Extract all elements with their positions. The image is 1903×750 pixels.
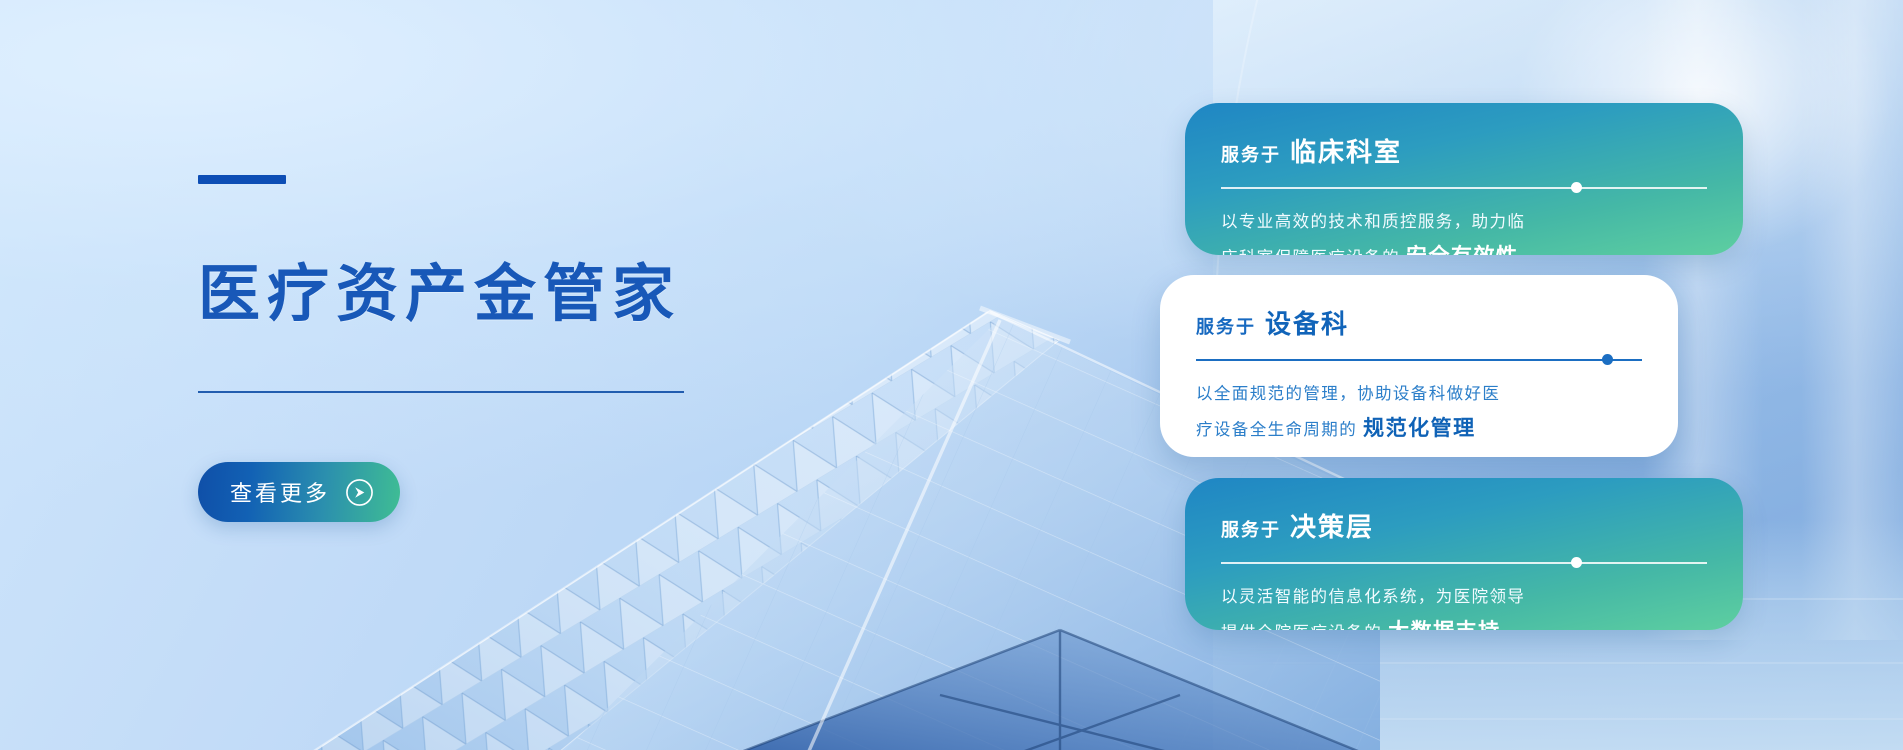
hero-banner: 医疗资产金管家 查看更多 服务于 临床科室 以专业 xyxy=(0,0,1903,750)
title-divider xyxy=(198,391,684,393)
card-description-emphasis: 安全有效性 xyxy=(1406,245,1519,255)
card-description-lead: 床科室保障医疗设备的 xyxy=(1221,249,1400,255)
card-heading: 服务于 设备科 xyxy=(1196,304,1642,341)
arrow-right-circle-icon xyxy=(345,478,374,507)
card-progress-line xyxy=(1221,187,1707,189)
card-prefix: 服务于 xyxy=(1196,313,1256,339)
card-prefix: 服务于 xyxy=(1221,516,1281,542)
card-description-line-2: 提供全院医疗设备的 大数据支持 xyxy=(1221,613,1707,630)
card-description-emphasis: 规范化管理 xyxy=(1363,417,1476,440)
card-description-line-1: 以全面规范的管理，协助设备科做好医 xyxy=(1196,379,1642,410)
card-description: 以专业高效的技术和质控服务，助力临 床科室保障医疗设备的 安全有效性 xyxy=(1221,207,1707,255)
card-progress-dot[interactable] xyxy=(1571,182,1582,193)
card-target: 临床科室 xyxy=(1290,132,1402,169)
card-progress-line xyxy=(1196,359,1642,361)
card-heading: 服务于 临床科室 xyxy=(1221,132,1707,169)
service-card-clinical-department[interactable]: 服务于 临床科室 以专业高效的技术和质控服务，助力临 床科室保障医疗设备的 安全… xyxy=(1185,103,1743,255)
card-prefix: 服务于 xyxy=(1221,141,1281,167)
card-description-lead: 疗设备全生命周期的 xyxy=(1196,421,1357,439)
card-target: 设备科 xyxy=(1265,304,1349,341)
hero-copy: 医疗资产金管家 查看更多 xyxy=(198,120,898,522)
card-progress-dot[interactable] xyxy=(1602,354,1613,365)
card-description-line-1: 以专业高效的技术和质控服务，助力临 xyxy=(1221,207,1707,238)
card-description: 以灵活智能的信息化系统，为医院领导 提供全院医疗设备的 大数据支持 xyxy=(1221,582,1707,630)
card-progress-track[interactable] xyxy=(1196,354,1642,365)
page-title: 医疗资产金管家 xyxy=(198,262,898,327)
card-description-line-2: 疗设备全生命周期的 规范化管理 xyxy=(1196,410,1642,449)
card-description-line-2: 床科室保障医疗设备的 安全有效性 xyxy=(1221,238,1707,255)
card-description-emphasis: 大数据支持 xyxy=(1388,620,1501,630)
view-more-button[interactable]: 查看更多 xyxy=(198,462,400,522)
card-description: 以全面规范的管理，协助设备科做好医 疗设备全生命周期的 规范化管理 xyxy=(1196,379,1642,448)
card-description-line-1: 以灵活智能的信息化系统，为医院领导 xyxy=(1221,582,1707,613)
service-card-decision-makers[interactable]: 服务于 决策层 以灵活智能的信息化系统，为医院领导 提供全院医疗设备的 大数据支… xyxy=(1185,478,1743,630)
card-progress-track[interactable] xyxy=(1221,182,1707,193)
view-more-label: 查看更多 xyxy=(230,476,330,508)
service-card-equipment-department[interactable]: 服务于 设备科 以全面规范的管理，协助设备科做好医 疗设备全生命周期的 规范化管… xyxy=(1160,275,1678,457)
card-target: 决策层 xyxy=(1290,507,1374,544)
card-progress-track[interactable] xyxy=(1221,557,1707,568)
card-progress-dot[interactable] xyxy=(1571,557,1582,568)
card-description-lead: 提供全院医疗设备的 xyxy=(1221,624,1382,630)
accent-bar xyxy=(198,175,286,184)
tower-crest-ridge xyxy=(980,308,1070,342)
service-card-list: 服务于 临床科室 以专业高效的技术和质控服务，助力临 床科室保障医疗设备的 安全… xyxy=(1150,0,1903,750)
card-heading: 服务于 决策层 xyxy=(1221,507,1707,544)
card-progress-line xyxy=(1221,562,1707,564)
